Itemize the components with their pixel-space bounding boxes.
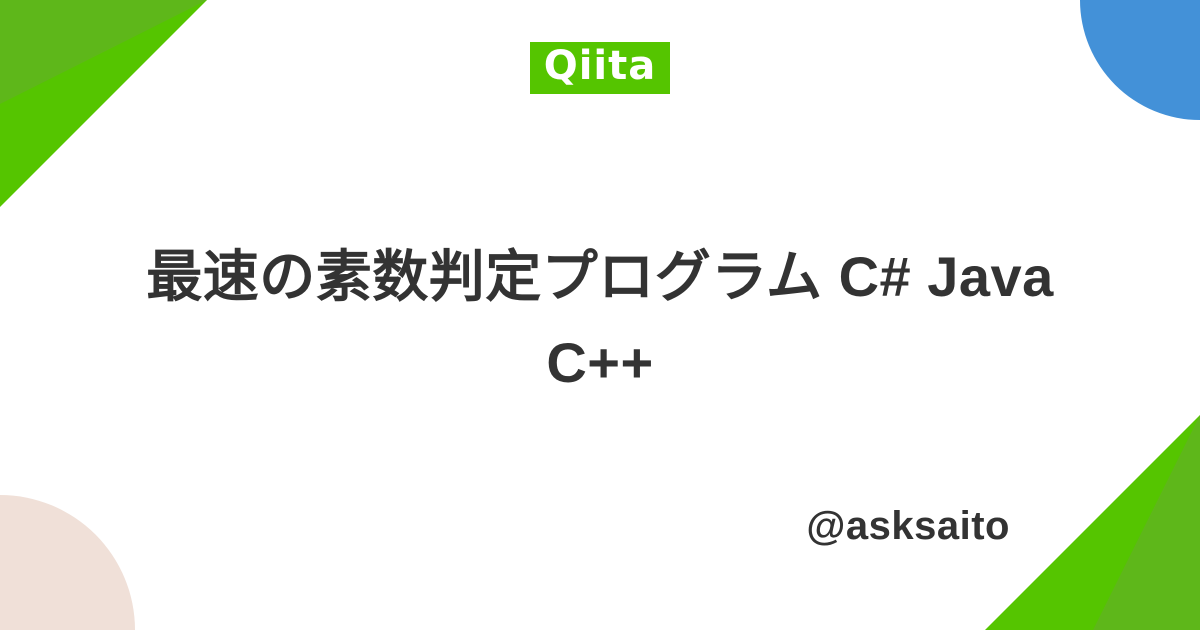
title-container: 最速の素数判定プログラム C# Java C++ bbox=[100, 215, 1100, 425]
author-handle: @asksaito bbox=[806, 504, 1010, 548]
article-title: 最速の素数判定プログラム C# Java C++ bbox=[100, 234, 1100, 406]
top-left-green-triangle-light bbox=[0, 0, 207, 207]
qiita-ogp-card: Qiita 最速の素数判定プログラム C# Java C++ @asksaito bbox=[0, 0, 1200, 630]
author-container: @asksaito bbox=[0, 498, 1200, 554]
logo-container: Qiita bbox=[0, 42, 1200, 94]
qiita-logo-badge: Qiita bbox=[530, 42, 671, 94]
qiita-logo-text: Qiita bbox=[544, 44, 657, 88]
